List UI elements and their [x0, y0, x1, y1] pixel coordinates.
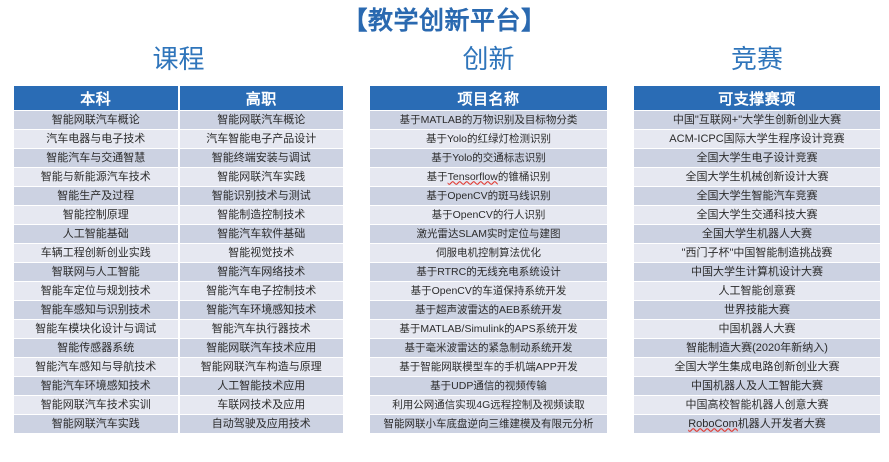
table-cell: 中国机器人大赛 — [634, 320, 880, 338]
table-cell: 车联网技术及应用 — [180, 396, 344, 414]
column-header[interactable]: 可支撑赛项 — [634, 86, 880, 110]
table-cell: 智能生产及过程 — [14, 187, 178, 205]
table-cell: 利用公网通信实现4G远程控制及视频读取 — [370, 396, 607, 414]
table-row[interactable]: 基于毫米波雷达的紧急制动系统开发 — [370, 339, 607, 357]
table-row[interactable]: 全国大学生电子设计竞赛 — [634, 149, 880, 167]
table-cell: 智能汽车环境感知技术 — [14, 377, 178, 395]
table-cell: 智联网与人工智能 — [14, 263, 178, 281]
table-cell: 全国大学生交通科技大赛 — [634, 206, 880, 224]
table-cell: 汽车智能电子产品设计 — [180, 130, 344, 148]
column-header[interactable]: 高职 — [180, 86, 344, 110]
table-row[interactable]: 基于OpenCV的车道保持系统开发 — [370, 282, 607, 300]
table-cell: 基于UDP通信的视频传输 — [370, 377, 607, 395]
table-row[interactable]: 世界技能大赛 — [634, 301, 880, 319]
table-cell: 自动驾驶及应用技术 — [180, 415, 344, 433]
table-row[interactable]: 伺服电机控制算法优化 — [370, 244, 607, 262]
table-row[interactable]: 智能与新能源汽车技术智能网联汽车实践 — [14, 168, 343, 186]
table-cell: 智能网联小车底盘逆向三维建模及有限元分析 — [370, 415, 607, 433]
table-row[interactable]: 基于MATLAB的万物识别及目标物分类 — [370, 111, 607, 129]
table-cell: 智能汽车网络技术 — [180, 263, 344, 281]
table-cell: 智能控制原理 — [14, 206, 178, 224]
courses-table: 本科高职智能网联汽车概论智能网联汽车概论汽车电器与电子技术汽车智能电子产品设计智… — [14, 86, 343, 433]
table-cell: 全国大学生机器人大赛 — [634, 225, 880, 243]
table-row[interactable]: 全国大学生机械创新设计大赛 — [634, 168, 880, 186]
table-cell: 全国大学生电子设计竞赛 — [634, 149, 880, 167]
table-row[interactable]: 基于OpenCV的行人识别 — [370, 206, 607, 224]
table-row[interactable]: 利用公网通信实现4G远程控制及视频读取 — [370, 396, 607, 414]
table-row[interactable]: 中国"互联网+"大学生创新创业大赛 — [634, 111, 880, 129]
table-row[interactable]: 基于Yolo的交通标志识别 — [370, 149, 607, 167]
table-cell: RoboCom机器人开发者大赛 — [634, 415, 880, 433]
section-headings: 课程 创新 竞赛 — [0, 42, 889, 78]
table-cell: 智能汽车环境感知技术 — [180, 301, 344, 319]
section-heading-courses: 课程 — [14, 42, 343, 76]
table-cell: 智能车定位与规划技术 — [14, 282, 178, 300]
column-header[interactable]: 项目名称 — [370, 86, 607, 110]
table-cell: 智能网联汽车实践 — [180, 168, 344, 186]
table-cell: "西门子杯"中国智能制造挑战赛 — [634, 244, 880, 262]
table-row[interactable]: ACM-ICPC国际大学生程序设计竞赛 — [634, 130, 880, 148]
table-row[interactable]: 全国大学生集成电路创新创业大赛 — [634, 358, 880, 376]
section-heading-competition: 竞赛 — [634, 42, 880, 76]
table-row[interactable]: 中国大学生计算机设计大赛 — [634, 263, 880, 281]
table-cell: 人工智能技术应用 — [180, 377, 344, 395]
table-cell: 智能车模块化设计与调试 — [14, 320, 178, 338]
table-cell: 智能网联汽车实践 — [14, 415, 178, 433]
table-row[interactable]: 中国高校智能机器人创意大赛 — [634, 396, 880, 414]
table-cell: 中国机器人及人工智能大赛 — [634, 377, 880, 395]
table-row[interactable]: 智能汽车感知与导航技术智能网联汽车构造与原理 — [14, 358, 343, 376]
table-cell: 基于Yolo的交通标志识别 — [370, 149, 607, 167]
table-row[interactable]: 人工智能基础智能汽车软件基础 — [14, 225, 343, 243]
table-cell: 智能网联汽车技术应用 — [180, 339, 344, 357]
table-cell: 智能与新能源汽车技术 — [14, 168, 178, 186]
table-cell: 基于Yolo的红绿灯检测识别 — [370, 130, 607, 148]
table-row[interactable]: 基于MATLAB/Simulink的APS系统开发 — [370, 320, 607, 338]
table-row[interactable]: 智能制造大赛(2020年新纳入) — [634, 339, 880, 357]
table-cell: 智能网联汽车概论 — [14, 111, 178, 129]
table-cell: 智能汽车感知与导航技术 — [14, 358, 178, 376]
table-row[interactable]: 基于OpenCV的斑马线识别 — [370, 187, 607, 205]
section-heading-innovation: 创新 — [370, 42, 607, 76]
table-cell: 全国大学生集成电路创新创业大赛 — [634, 358, 880, 376]
table-row[interactable]: 基于RTRC的无线充电系统设计 — [370, 263, 607, 281]
table-cell: 基于OpenCV的车道保持系统开发 — [370, 282, 607, 300]
table-cell: 智能网联汽车概论 — [180, 111, 344, 129]
table-cell: 智能汽车执行器技术 — [180, 320, 344, 338]
column-header[interactable]: 本科 — [14, 86, 178, 110]
table-cell: 基于MATLAB/Simulink的APS系统开发 — [370, 320, 607, 338]
table-cell: 智能视觉技术 — [180, 244, 344, 262]
table-cell: 全国大学生机械创新设计大赛 — [634, 168, 880, 186]
table-row[interactable]: 智能车感知与识别技术智能汽车环境感知技术 — [14, 301, 343, 319]
table-row[interactable]: 人工智能创意赛 — [634, 282, 880, 300]
table-cell: 智能网联汽车技术实训 — [14, 396, 178, 414]
table-cell: 智能制造大赛(2020年新纳入) — [634, 339, 880, 357]
table-row[interactable]: 基于超声波雷达的AEB系统开发 — [370, 301, 607, 319]
table-cell: 智能车感知与识别技术 — [14, 301, 178, 319]
table-cell: 智能制造控制技术 — [180, 206, 344, 224]
table-row[interactable]: 智能网联汽车技术实训车联网技术及应用 — [14, 396, 343, 414]
table-row[interactable]: 基于Tensorflow的锥桶识别 — [370, 168, 607, 186]
page-title: 【教学创新平台】 — [0, 6, 889, 36]
table-row[interactable]: 智能汽车环境感知技术人工智能技术应用 — [14, 377, 343, 395]
table-row[interactable]: 全国大学生交通科技大赛 — [634, 206, 880, 224]
table-row[interactable]: 智能车定位与规划技术智能汽车电子控制技术 — [14, 282, 343, 300]
projects-table: 项目名称基于MATLAB的万物识别及目标物分类基于Yolo的红绿灯检测识别基于Y… — [370, 86, 607, 433]
table-row[interactable]: 汽车电器与电子技术汽车智能电子产品设计 — [14, 130, 343, 148]
table-row[interactable]: RoboCom机器人开发者大赛 — [634, 415, 880, 433]
table-cell: 智能汽车软件基础 — [180, 225, 344, 243]
table-cell: 人工智能基础 — [14, 225, 178, 243]
table-cell: 智能识别技术与测试 — [180, 187, 344, 205]
competitions-table: 可支撑赛项中国"互联网+"大学生创新创业大赛ACM-ICPC国际大学生程序设计竞… — [634, 86, 880, 433]
table-cell: 激光雷达SLAM实时定位与建图 — [370, 225, 607, 243]
table-cell: 智能汽车与交通智慧 — [14, 149, 178, 167]
table-cell: 汽车电器与电子技术 — [14, 130, 178, 148]
table-row[interactable]: 激光雷达SLAM实时定位与建图 — [370, 225, 607, 243]
table-header-row: 可支撑赛项 — [634, 86, 880, 110]
table-cell: 基于RTRC的无线充电系统设计 — [370, 263, 607, 281]
table-cell: 中国大学生计算机设计大赛 — [634, 263, 880, 281]
table-row[interactable]: 智联网与人工智能智能汽车网络技术 — [14, 263, 343, 281]
table-row[interactable]: 智能生产及过程智能识别技术与测试 — [14, 187, 343, 205]
table-cell: 基于Tensorflow的锥桶识别 — [370, 168, 607, 186]
table-row[interactable]: 智能网联汽车实践自动驾驶及应用技术 — [14, 415, 343, 433]
table-row[interactable]: 智能网联小车底盘逆向三维建模及有限元分析 — [370, 415, 607, 433]
table-header-row: 项目名称 — [370, 86, 607, 110]
table-cell: 基于OpenCV的斑马线识别 — [370, 187, 607, 205]
table-row[interactable]: 全国大学生智能汽车竞赛 — [634, 187, 880, 205]
table-cell: 中国"互联网+"大学生创新创业大赛 — [634, 111, 880, 129]
table-cell: 世界技能大赛 — [634, 301, 880, 319]
table-cell: 伺服电机控制算法优化 — [370, 244, 607, 262]
table-cell: 基于毫米波雷达的紧急制动系统开发 — [370, 339, 607, 357]
table-row[interactable]: 中国机器人及人工智能大赛 — [634, 377, 880, 395]
table-cell: 中国高校智能机器人创意大赛 — [634, 396, 880, 414]
misspelled-term: RoboCom — [688, 418, 738, 431]
table-row[interactable]: 智能传感器系统智能网联汽车技术应用 — [14, 339, 343, 357]
table-cell: ACM-ICPC国际大学生程序设计竞赛 — [634, 130, 880, 148]
table-header-row: 本科高职 — [14, 86, 343, 110]
table-cell: 全国大学生智能汽车竞赛 — [634, 187, 880, 205]
table-cell: 人工智能创意赛 — [634, 282, 880, 300]
table-cell: 车辆工程创新创业实践 — [14, 244, 178, 262]
table-row[interactable]: 智能网联汽车概论智能网联汽车概论 — [14, 111, 343, 129]
table-row[interactable]: 智能汽车与交通智慧智能终端安装与调试 — [14, 149, 343, 167]
table-row[interactable]: 基于UDP通信的视频传输 — [370, 377, 607, 395]
table-row[interactable]: 智能控制原理智能制造控制技术 — [14, 206, 343, 224]
table-row[interactable]: 基于Yolo的红绿灯检测识别 — [370, 130, 607, 148]
table-row[interactable]: 车辆工程创新创业实践智能视觉技术 — [14, 244, 343, 262]
table-cell: 基于超声波雷达的AEB系统开发 — [370, 301, 607, 319]
table-cell: 基于智能网联模型车的手机端APP开发 — [370, 358, 607, 376]
table-cell: 基于MATLAB的万物识别及目标物分类 — [370, 111, 607, 129]
table-row[interactable]: 全国大学生机器人大赛 — [634, 225, 880, 243]
table-cell: 智能终端安装与调试 — [180, 149, 344, 167]
table-row[interactable]: "西门子杯"中国智能制造挑战赛 — [634, 244, 880, 262]
misspelled-term: Tensorflow — [448, 171, 498, 184]
table-row[interactable]: 智能车模块化设计与调试智能汽车执行器技术 — [14, 320, 343, 338]
table-cell: 基于OpenCV的行人识别 — [370, 206, 607, 224]
table-row[interactable]: 基于智能网联模型车的手机端APP开发 — [370, 358, 607, 376]
table-cell: 智能汽车电子控制技术 — [180, 282, 344, 300]
table-cell: 智能网联汽车构造与原理 — [180, 358, 344, 376]
table-row[interactable]: 中国机器人大赛 — [634, 320, 880, 338]
table-cell: 智能传感器系统 — [14, 339, 178, 357]
